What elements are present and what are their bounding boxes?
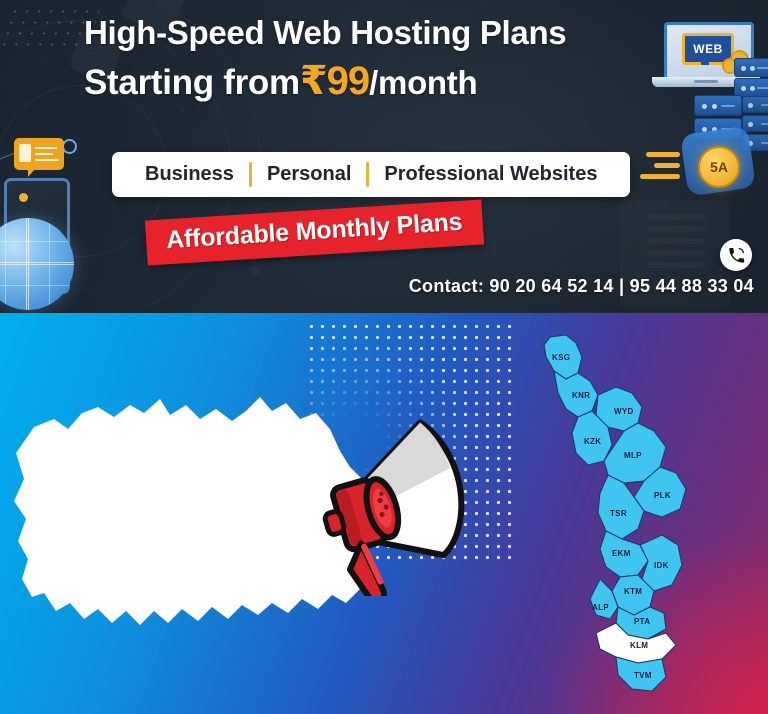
server-rack-icon bbox=[742, 115, 768, 132]
bubble-line bbox=[35, 159, 59, 161]
speed-line bbox=[646, 152, 680, 157]
award-badge-5a-icon: 5A bbox=[698, 146, 740, 188]
map-label-KLM: KLM bbox=[630, 641, 648, 650]
district-ALP bbox=[590, 579, 618, 619]
plan-type-professional[interactable]: Professional Websites bbox=[369, 163, 612, 186]
map-label-PLK: PLK bbox=[654, 491, 671, 500]
hosting-promo-poster: WEB 5A High-Speed Web Hosting Plans Star… bbox=[0, 0, 768, 714]
phone-indicator bbox=[19, 193, 28, 202]
map-label-MLP: MLP bbox=[624, 451, 642, 460]
laptop-servers-illustration: WEB 5A bbox=[638, 0, 768, 313]
speed-line bbox=[640, 174, 680, 179]
server-rack-icon bbox=[694, 95, 742, 116]
node-dot-icon bbox=[62, 139, 77, 154]
map-label-EKM: EKM bbox=[612, 549, 631, 558]
price-period: /month bbox=[369, 65, 477, 101]
map-label-IDK: IDK bbox=[654, 561, 669, 570]
subtitle-price-line: Starting from ₹99 /month bbox=[84, 60, 604, 103]
plan-types-pill: Business Personal Professional Websites bbox=[112, 152, 630, 197]
district-panel: കൊല്ലം bbox=[0, 313, 768, 714]
bubble-line bbox=[35, 153, 53, 155]
map-label-WYD: WYD bbox=[614, 407, 634, 416]
speech-bubble-icon bbox=[14, 138, 64, 170]
bubble-line bbox=[35, 147, 57, 149]
price-value: ₹99 bbox=[300, 60, 369, 103]
server-rack-icon bbox=[742, 96, 768, 113]
monitor-stand bbox=[701, 59, 709, 65]
map-label-KZK: KZK bbox=[584, 437, 601, 446]
plan-type-business[interactable]: Business bbox=[130, 163, 249, 186]
map-label-PTA: PTA bbox=[634, 617, 650, 626]
map-label-TSR: TSR bbox=[610, 509, 627, 518]
plan-type-personal[interactable]: Personal bbox=[252, 163, 366, 186]
server-rack-icon bbox=[734, 58, 768, 77]
map-label-ALP: ALP bbox=[592, 603, 609, 612]
starting-from-text: Starting from bbox=[84, 64, 300, 102]
map-label-KNR: KNR bbox=[572, 391, 590, 400]
megaphone-icon bbox=[290, 416, 490, 596]
map-label-KSG: KSG bbox=[552, 353, 570, 362]
bubble-doc-icon bbox=[19, 144, 31, 162]
map-label-TVM: TVM bbox=[634, 671, 652, 680]
map-label-KTM: KTM bbox=[624, 587, 642, 596]
district-TSR bbox=[598, 475, 644, 539]
phone-call-icon[interactable] bbox=[720, 239, 752, 271]
kerala-state-map: KSG KNR WYD KZK MLP PLK TSR EKM IDK KTM … bbox=[520, 333, 720, 693]
promo-banner: WEB 5A High-Speed Web Hosting Plans Star… bbox=[0, 0, 768, 313]
contact-numbers[interactable]: Contact: 90 20 64 52 14 | 95 44 88 33 04 bbox=[409, 276, 754, 297]
page-title: High-Speed Web Hosting Plans bbox=[84, 16, 604, 51]
decorative-dot bbox=[250, 265, 260, 275]
speed-line bbox=[654, 163, 680, 168]
